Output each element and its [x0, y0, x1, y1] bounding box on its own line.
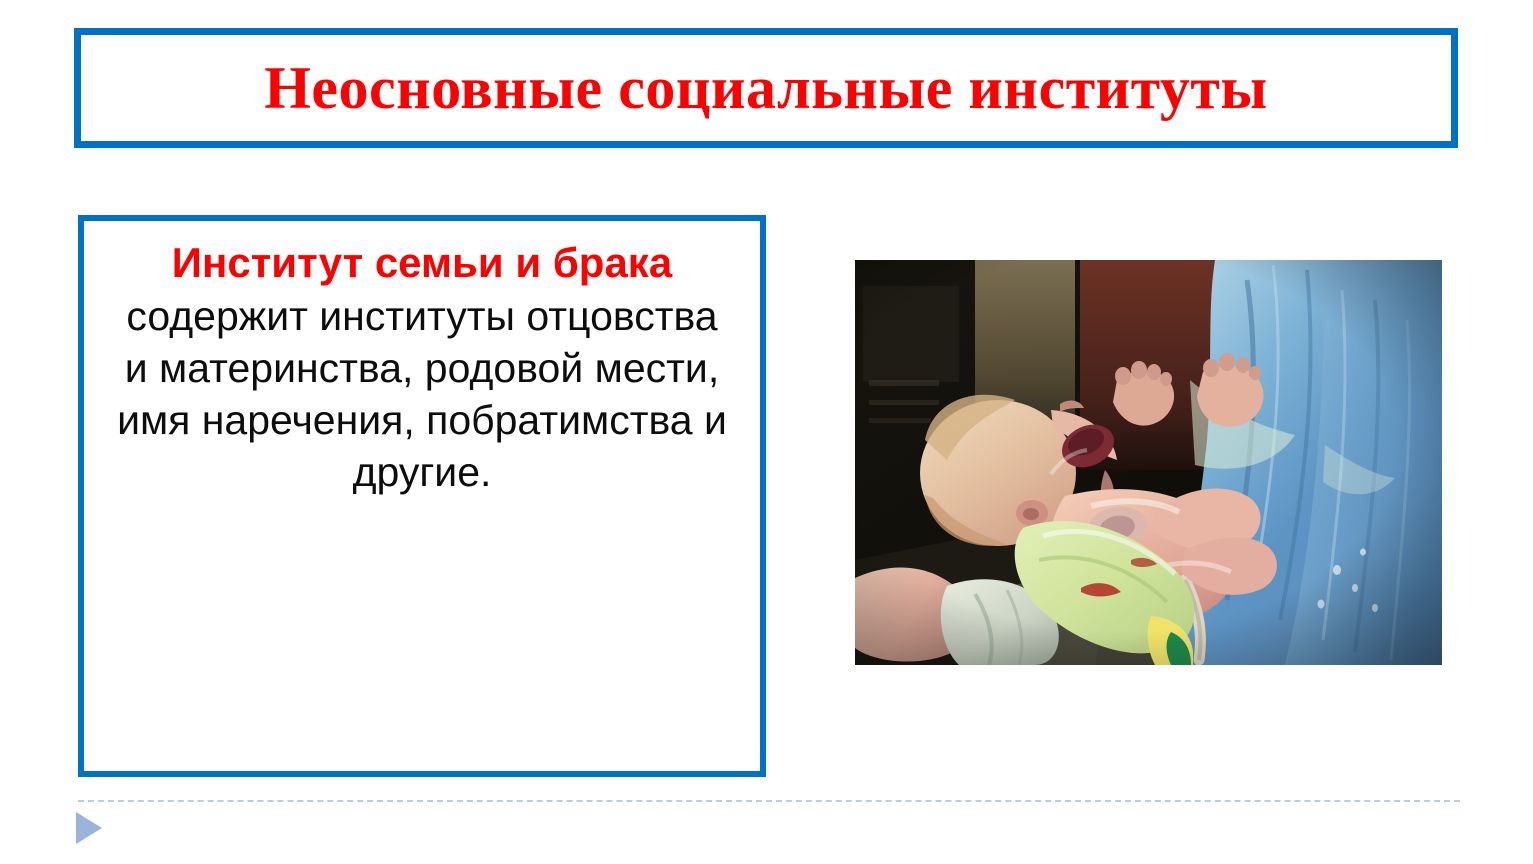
- page-title: Неосновные социальные институты: [264, 57, 1268, 120]
- newborn-baby-photo: [855, 260, 1442, 665]
- dashed-divider: [78, 800, 1460, 802]
- content-body-text: содержит институты отцовства и материнст…: [110, 290, 734, 498]
- content-text-box: Институт семьи и брака содержит институт…: [78, 215, 766, 777]
- triangle-bullet-icon[interactable]: [76, 812, 102, 844]
- content-heading: Институт семьи и брака: [110, 239, 734, 288]
- slide-title-box: Неосновные социальные институты: [74, 28, 1458, 148]
